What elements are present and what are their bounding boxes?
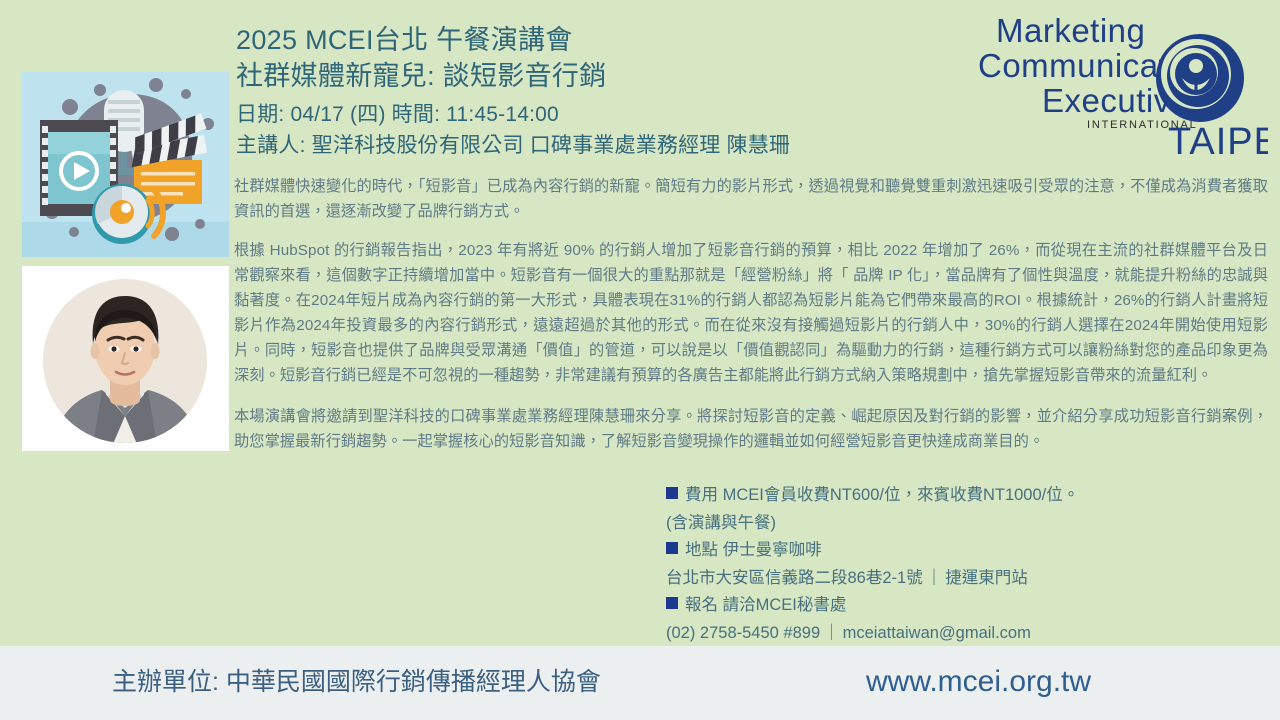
registration-line: 報名 請洽MCEI秘書處 [666,592,1226,620]
event-datetime: 日期: 04/17 (四) 時間: 11:45-14:00 [236,99,956,130]
mcei-globe-mark [1156,34,1244,122]
register-label: 報名 [685,596,718,614]
svg-text:Marketing: Marketing [996,12,1145,49]
speaker-portrait [22,266,229,451]
square-bullet-icon [666,542,678,554]
square-bullet-icon [666,597,678,609]
event-details-block: 費用 MCEI會員收費NT600/位，來賓收費NT1000/位。 (含演講與午餐… [666,482,1226,647]
register-text: 請洽MCEI秘書處 [723,596,847,614]
venue-line: 地點 伊士曼寧咖啡 [666,537,1226,565]
left-image-column [22,72,229,451]
contact-email[interactable]: mceiattaiwan@gmail.com [843,624,1031,642]
square-bullet-icon [666,487,678,499]
venue-transit: 捷運東門站 [945,569,1028,587]
footer-organizer: 主辦單位: 中華民國國際行銷傳播經理人協會 [112,662,601,702]
venue-text: 伊士曼寧咖啡 [723,541,822,559]
body-text-column: 社群媒體快速變化的時代，「短影音」已成為內容行銷的新寵。簡短有力的影片形式，透過… [234,174,1268,454]
venue-label: 地點 [685,541,718,559]
paragraph-intro: 社群媒體快速變化的時代，「短影音」已成為內容行銷的新寵。簡短有力的影片形式，透過… [234,174,1268,224]
short-video-illustration [22,72,229,257]
poster-root: Marketing Communications Executives INTE… [0,0,1280,720]
header-text-block: 2025 MCEI台北 午餐演講會 社群媒體新寵兒: 談短影音行銷 日期: 04… [236,22,956,161]
address-separator: ｜ [923,569,946,587]
fee-note: (含演講與午餐) [666,510,1226,538]
fee-text: MCEI會員收費NT600/位，來賓收費NT1000/位。 [723,486,1080,504]
svg-text:TAIPEI: TAIPEI [1168,121,1268,160]
page-title-line-1: 2025 MCEI台北 午餐演講會 [236,22,956,58]
footer-bar: 主辦單位: 中華民國國際行銷傳播經理人協會 www.mcei.org.tw [0,646,1280,720]
footer-website-link[interactable]: www.mcei.org.tw [866,660,1091,704]
page-title-line-2: 社群媒體新寵兒: 談短影音行銷 [236,58,956,94]
paragraph-statistics: 根據 HubSpot 的行銷報告指出，2023 年有將近 90% 的行銷人增加了… [234,238,1268,388]
venue-address: 台北市大安區信義路二段86巷2-1號 [666,569,923,587]
mcei-taipei-logo: Marketing Communications Executives INTE… [972,8,1268,160]
event-speaker: 主講人: 聖洋科技股份有限公司 口碑事業處業務經理 陳慧珊 [236,130,956,161]
venue-address-line: 台北市大安區信義路二段86巷2-1號｜捷運東門站 [666,565,1226,593]
fee-label: 費用 [685,486,718,504]
contact-separator: ｜ [820,624,843,642]
paragraph-session-summary: 本場演講會將邀請到聖洋科技的口碑事業處業務經理陳慧珊來分享。將探討短影音的定義、… [234,404,1268,454]
contact-line: (02) 2758-5450 #899｜mceiattaiwan@gmail.c… [666,620,1226,648]
contact-phone[interactable]: (02) 2758-5450 #899 [666,624,820,642]
fee-line: 費用 MCEI會員收費NT600/位，來賓收費NT1000/位。 [666,482,1226,510]
